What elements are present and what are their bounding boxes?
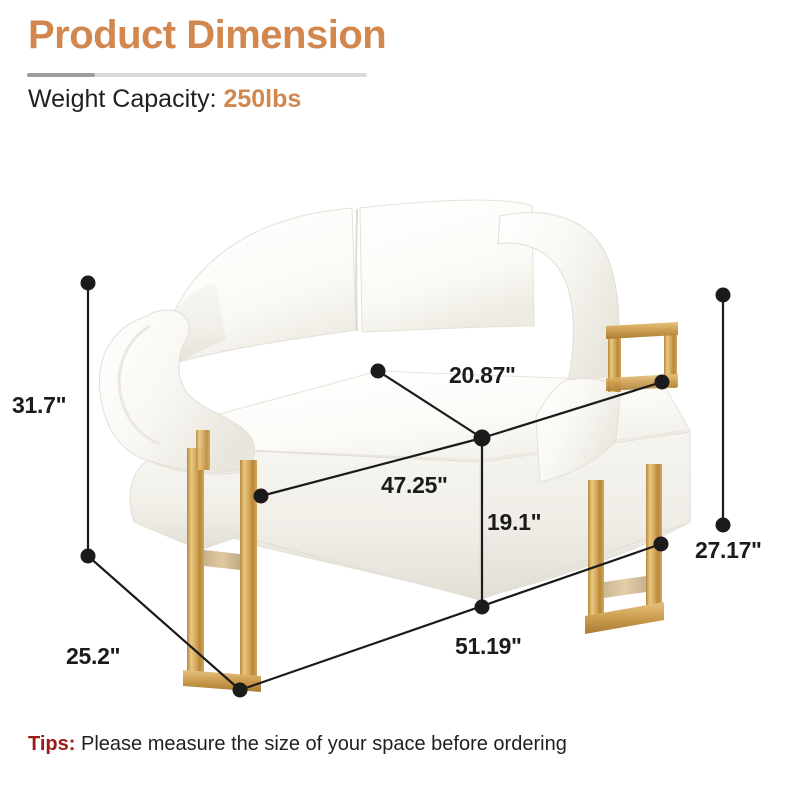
title-divider-accent <box>27 73 95 77</box>
dot-backheight-top <box>716 288 731 303</box>
tips-text: Please measure the size of your space be… <box>81 733 567 755</box>
title-divider <box>27 73 367 77</box>
dim-label-seat-width: 47.25" <box>381 472 448 499</box>
product-diagram: 31.7" 20.87" 47.25" 19.1" 51.19" 25.2" 2… <box>0 130 800 720</box>
dim-label-seat-height: 19.1" <box>487 509 541 536</box>
dot-length-right <box>654 537 669 552</box>
pillow-seam <box>356 209 357 331</box>
dot-depth-corner <box>233 683 248 698</box>
weight-capacity-label: Weight Capacity: <box>28 85 217 113</box>
dot-seat-junction <box>474 430 491 447</box>
tips-note: Tips: Please measure the size of your sp… <box>28 733 567 756</box>
leg-left-front-vertical <box>187 448 204 676</box>
leg-left-inner-shadow <box>204 550 240 570</box>
tips-label: Tips: <box>28 733 75 755</box>
dim-label-back-height: 27.17" <box>695 537 762 564</box>
dim-label-overall-depth: 25.2" <box>66 643 120 670</box>
dot-seatdepth-right <box>655 375 670 390</box>
product-dimension-page: Product Dimension Weight Capacity: 250lb… <box>0 0 800 800</box>
dot-seatdepth-left <box>371 364 386 379</box>
dot-height-bottom <box>81 549 96 564</box>
page-title: Product Dimension <box>28 13 386 58</box>
leg-right-inner-shadow <box>604 576 646 598</box>
leg-right-front-vertical <box>588 480 604 630</box>
dot-backheight-bottom <box>716 518 731 533</box>
dot-seatwidth-left <box>254 489 269 504</box>
dim-label-overall-height: 31.7" <box>12 392 66 419</box>
dot-seatheight-bottom <box>475 600 490 615</box>
weight-capacity-value: 250lbs <box>223 85 301 113</box>
dot-height-top <box>81 276 96 291</box>
leg-left-arm-bracket <box>196 430 210 470</box>
dim-label-seat-depth: 20.87" <box>449 362 516 389</box>
weight-capacity: Weight Capacity: 250lbs <box>28 85 301 114</box>
dim-label-overall-length: 51.19" <box>455 633 522 660</box>
